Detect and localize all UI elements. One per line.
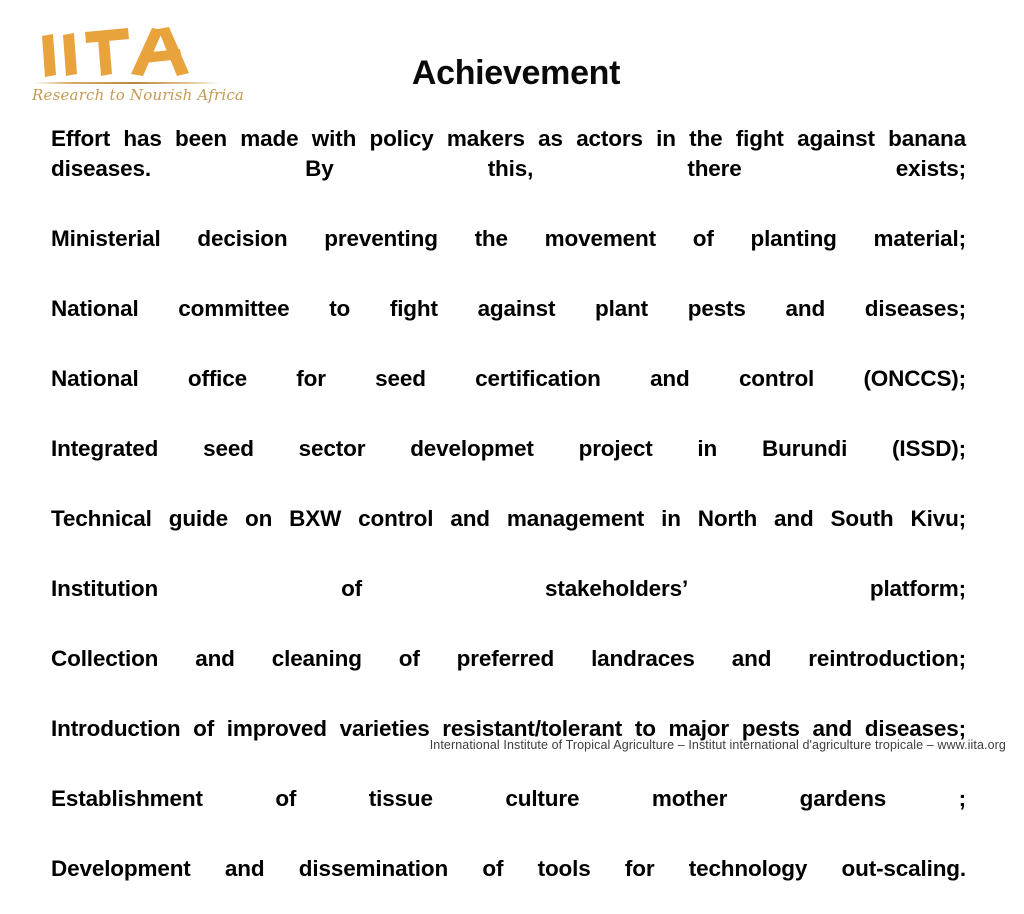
iita-wordmark-icon	[32, 26, 222, 82]
logo-divider-line	[34, 82, 220, 84]
body-paragraph: Establishment of tissue culture mother g…	[51, 784, 966, 844]
slide-footer: International Institute of Tropical Agri…	[0, 738, 1024, 752]
body-paragraph: National office for seed certification a…	[51, 364, 966, 424]
body-paragraph: Ministerial decision preventing the move…	[51, 224, 966, 284]
body-paragraph: Development and dissemination of tools f…	[51, 854, 966, 914]
presentation-slide: Research to Nourish Africa Achievement E…	[0, 0, 1024, 768]
body-paragraph: Collection and cleaning of preferred lan…	[51, 644, 966, 704]
iita-logo: Research to Nourish Africa	[28, 26, 224, 114]
body-paragraph: Effort has been made with policy makers …	[51, 124, 966, 214]
body-paragraph: Integrated seed sector developmet projec…	[51, 434, 966, 494]
body-paragraph: Technical guide on BXW control and manag…	[51, 504, 966, 564]
logo-tagline: Research to Nourish Africa	[32, 86, 224, 104]
page-title: Achievement	[232, 51, 800, 95]
body-paragraph: National committee to fight against plan…	[51, 294, 966, 354]
slide-body: Effort has been made with policy makers …	[51, 124, 966, 914]
body-paragraph: Institution of stakeholders’ platform;	[51, 574, 966, 634]
